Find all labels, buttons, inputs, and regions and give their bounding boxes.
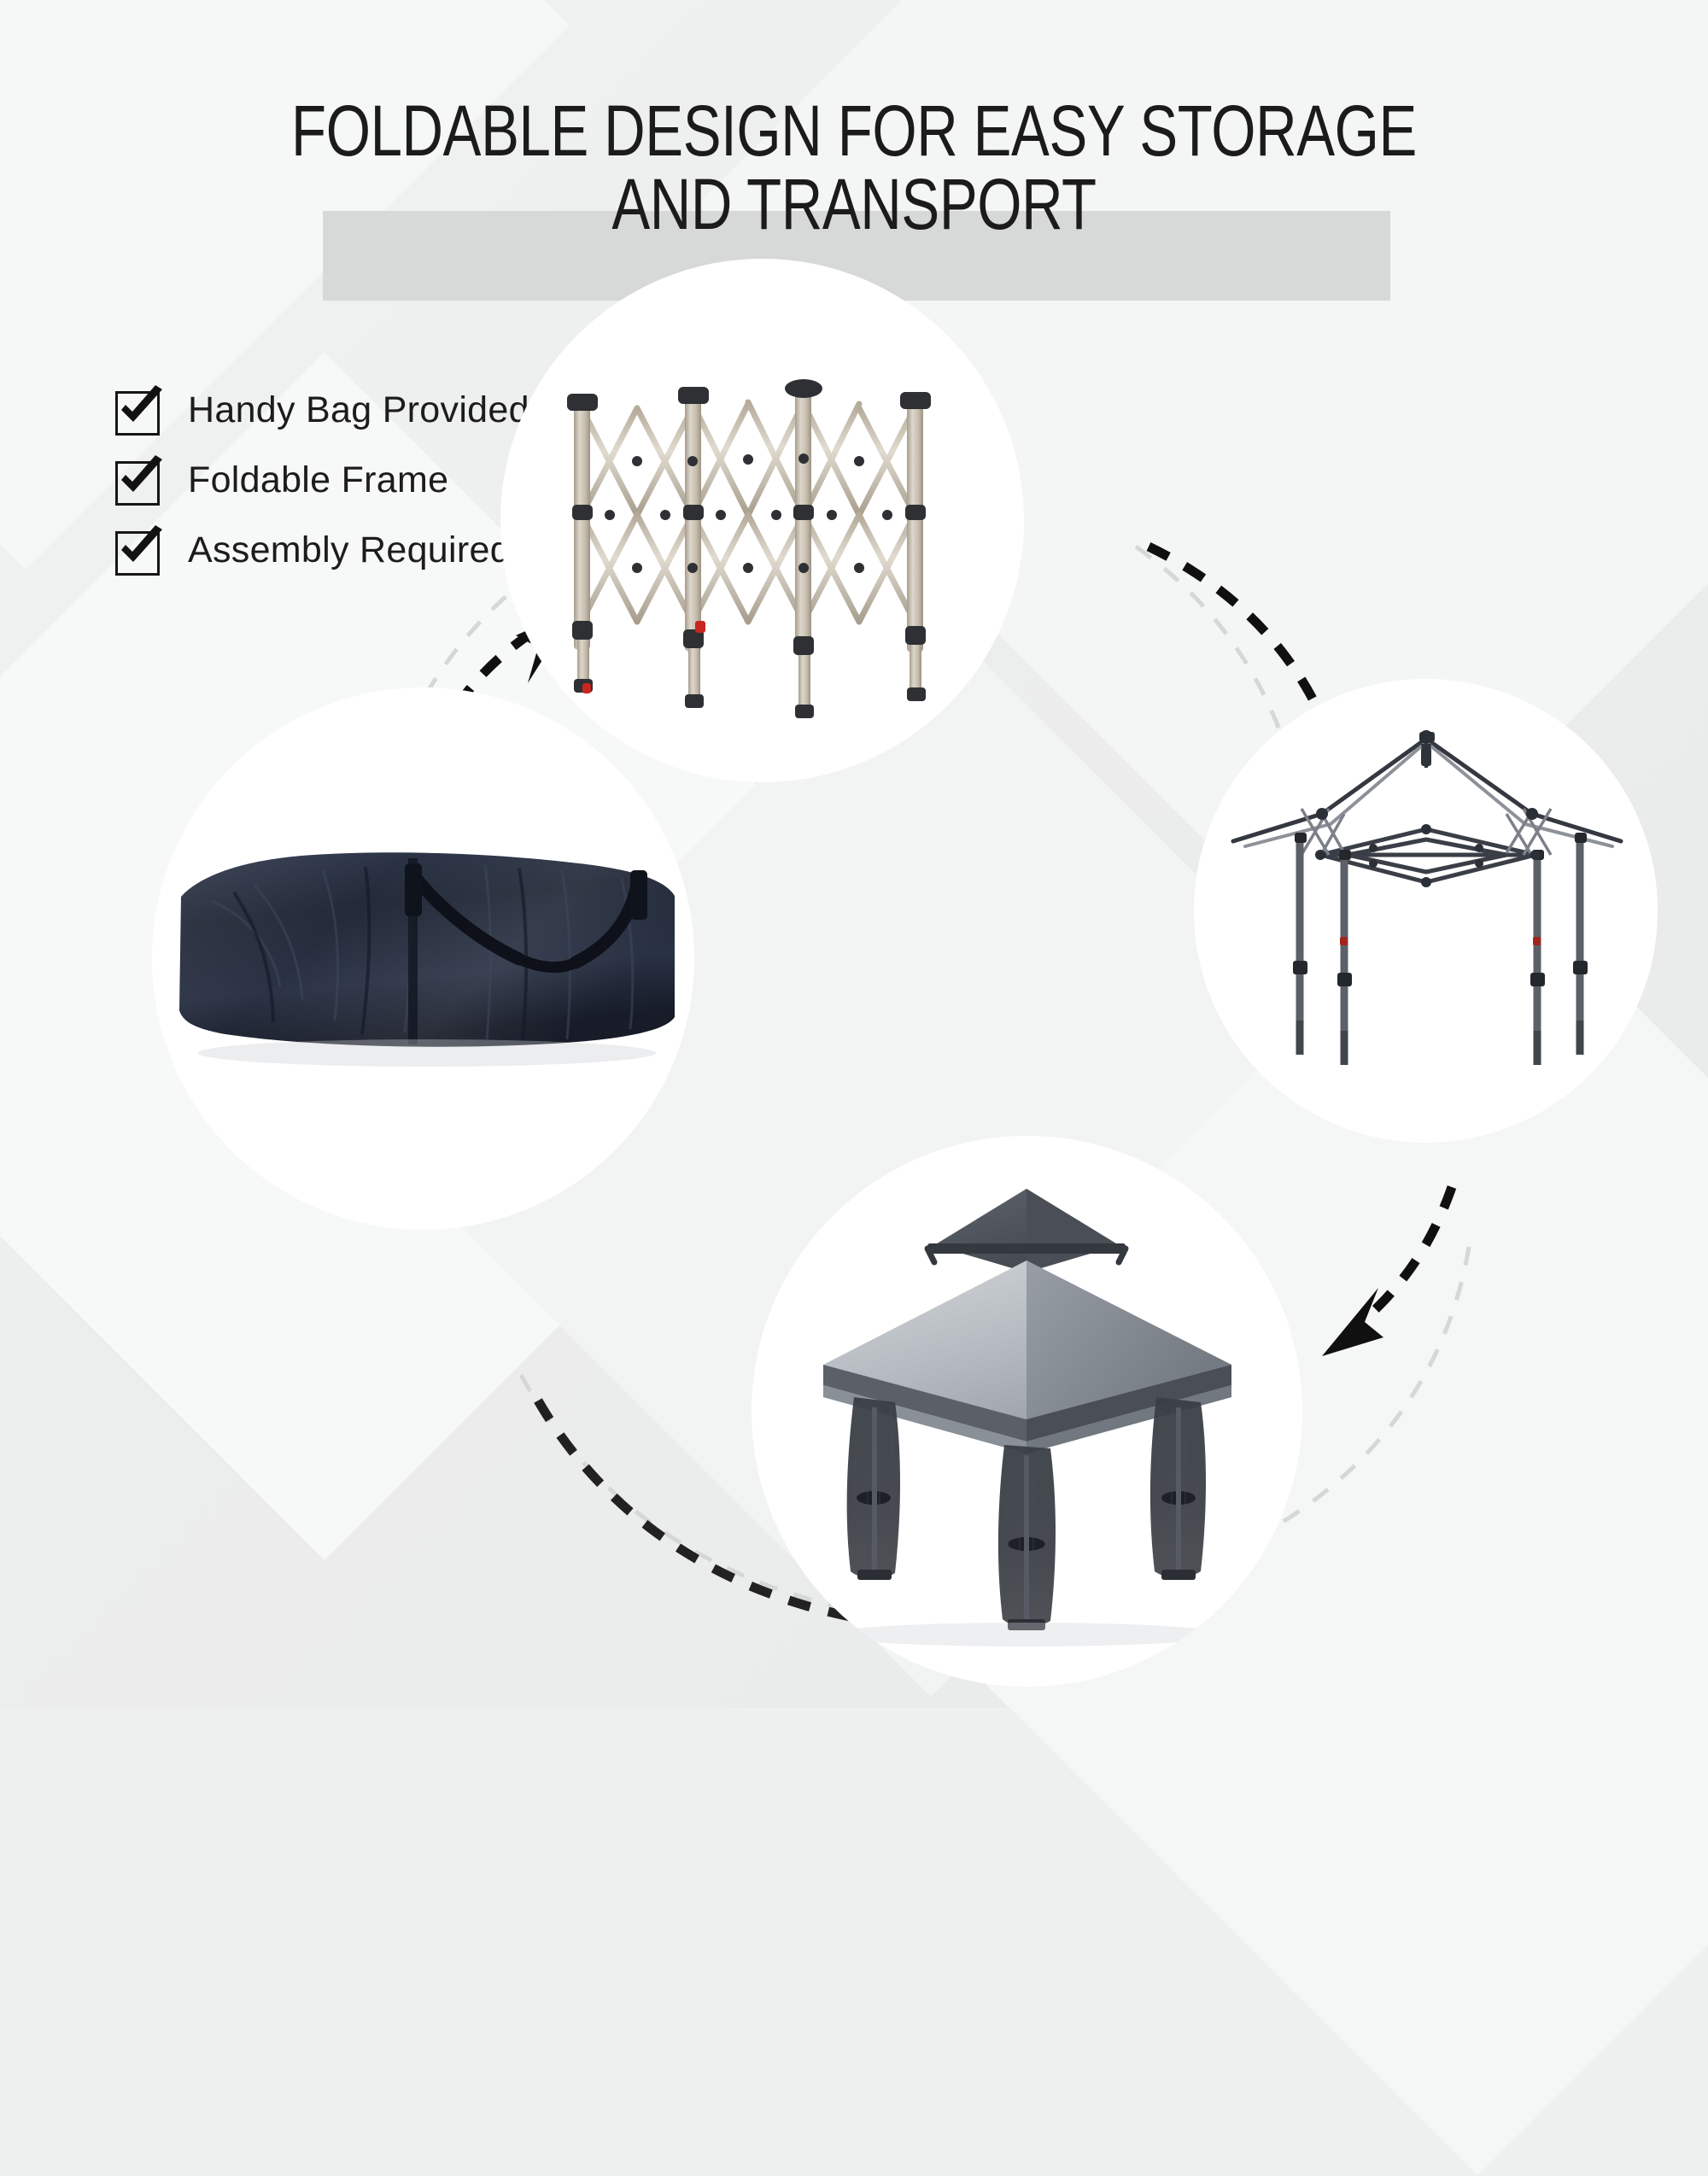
checkmark-glyph <box>113 524 166 576</box>
page-title: FOLDABLE DESIGN FOR EASY STORAGE AND TRA… <box>171 94 1537 241</box>
feature-list: Handy Bag Provided Foldable Frame Assemb… <box>113 376 529 586</box>
checkmark-glyph <box>113 453 166 506</box>
open-frame-illustration <box>1194 679 1658 1143</box>
feature-item-foldable-frame: Foldable Frame <box>113 446 529 514</box>
checkmark-icon <box>113 453 166 506</box>
feature-item-handy-bag: Handy Bag Provided <box>113 376 529 444</box>
carry-bag-illustration <box>152 687 694 1230</box>
feature-label: Handy Bag Provided <box>188 389 529 431</box>
feature-item-assembly-required: Assembly Required <box>113 516 529 584</box>
assembled-gazebo-illustration <box>752 1136 1302 1687</box>
checkmark-icon <box>113 524 166 576</box>
feature-label: Assembly Required <box>188 529 511 571</box>
product-image-assembled-gazebo <box>752 1136 1302 1687</box>
product-image-carry-bag <box>152 687 694 1230</box>
infographic-canvas: FOLDABLE DESIGN FOR EASY STORAGE AND TRA… <box>0 0 1708 1708</box>
product-image-open-frame <box>1194 679 1658 1143</box>
checkmark-glyph <box>113 383 166 436</box>
checkmark-icon <box>113 383 166 436</box>
feature-label: Foldable Frame <box>188 459 448 501</box>
